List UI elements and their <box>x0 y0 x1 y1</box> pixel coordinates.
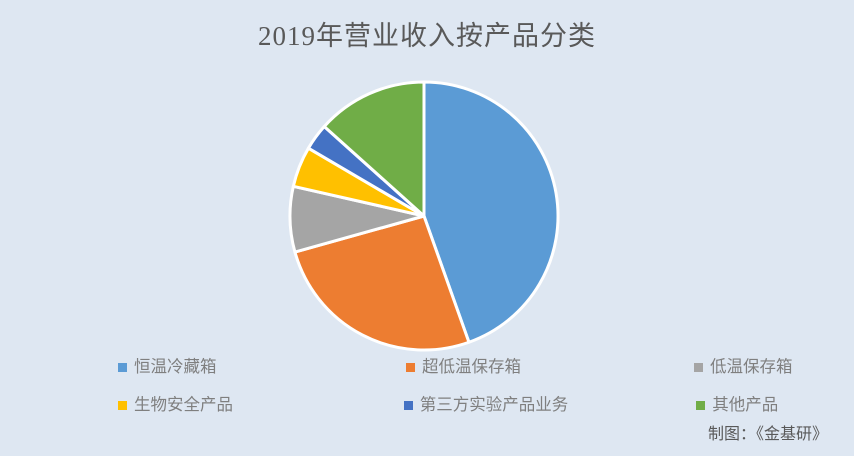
legend-label: 恒温冷藏箱 <box>134 359 217 376</box>
legend-item-生物安全产品[interactable]: 生物安全产品 <box>118 386 276 424</box>
pie-slice[interactable]: 恒温冷藏箱 44.6% <box>424 82 558 342</box>
legend-item-其他产品[interactable]: 其他产品 <box>696 386 854 424</box>
legend-swatch-icon <box>404 401 413 410</box>
pie-slice[interactable]: 第三方实验产品业务 3.2% <box>308 127 424 216</box>
chart-credit: 制图：《金基研》 <box>708 420 828 444</box>
pie-chart-figure: 2019年营业收入按产品分类 恒温冷藏箱 44.6%超低温保存箱 26.1%低温… <box>0 0 854 456</box>
pie-slice-group: 恒温冷藏箱 44.6%超低温保存箱 26.1%低温保存箱 7.9%生物安全产品 … <box>290 82 558 350</box>
legend-swatch-icon <box>406 363 415 372</box>
legend-label: 第三方实验产品业务 <box>420 397 569 414</box>
pie-slice[interactable]: 生物安全产品 4.9% <box>293 148 424 216</box>
chart-legend: 恒温冷藏箱超低温保存箱低温保存箱生物安全产品第三方实验产品业务其他产品 <box>0 348 854 424</box>
legend-label: 超低温保存箱 <box>422 359 521 376</box>
legend-item-低温保存箱[interactable]: 低温保存箱 <box>694 348 854 386</box>
legend-swatch-icon <box>118 401 127 410</box>
legend-item-恒温冷藏箱[interactable]: 恒温冷藏箱 <box>118 348 278 386</box>
legend-item-超低温保存箱[interactable]: 超低温保存箱 <box>406 348 566 386</box>
pie-slice[interactable]: 超低温保存箱 26.1% <box>295 216 469 350</box>
legend-item-第三方实验产品业务[interactable]: 第三方实验产品业务 <box>404 386 569 424</box>
legend-swatch-icon <box>696 401 705 410</box>
pie-slice[interactable]: 低温保存箱 7.9% <box>290 186 424 252</box>
legend-label: 低温保存箱 <box>710 359 793 376</box>
legend-swatch-icon <box>694 363 703 372</box>
chart-title: 2019年营业收入按产品分类 <box>0 14 854 53</box>
legend-label: 生物安全产品 <box>134 397 233 414</box>
legend-label: 其他产品 <box>712 397 778 414</box>
pie-slice[interactable]: 其他产品 13.3% <box>324 82 424 216</box>
legend-row: 恒温冷藏箱超低温保存箱低温保存箱 <box>0 348 854 386</box>
legend-row: 生物安全产品第三方实验产品业务其他产品 <box>0 386 854 424</box>
legend-swatch-icon <box>118 363 127 372</box>
